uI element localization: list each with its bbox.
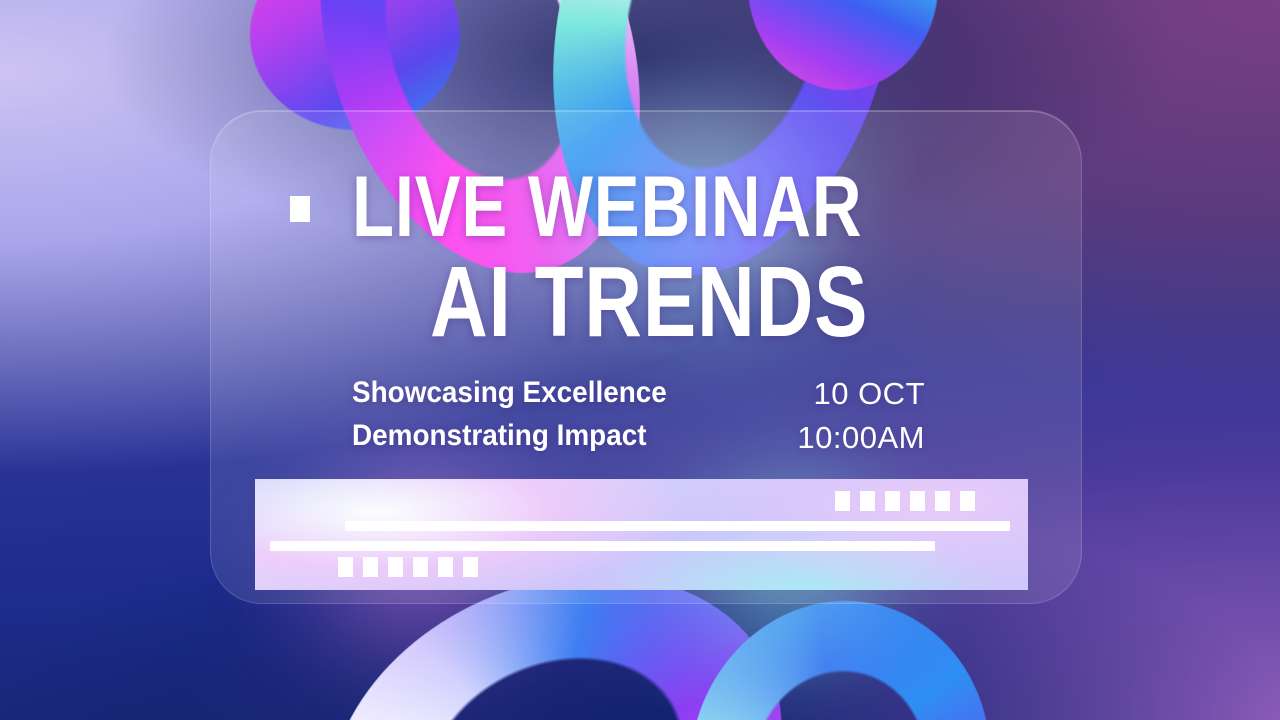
dot-marker — [463, 557, 478, 577]
dot-marker — [885, 491, 900, 511]
dot-marker — [363, 557, 378, 577]
event-date: 10 OCT — [625, 372, 925, 416]
dot-marker — [388, 557, 403, 577]
event-time: 10:00AM — [625, 416, 925, 460]
dot-marker — [413, 557, 428, 577]
event-schedule-block: 10 OCT 10:00AM — [625, 372, 925, 460]
headline-line-2: AI TRENDS — [430, 256, 910, 348]
dot-marker — [860, 491, 875, 511]
footer-panel — [255, 479, 1028, 590]
dot-group-bottom — [338, 557, 478, 577]
subtitle-block: Showcasing Excellence Demonstrating Impa… — [352, 372, 667, 457]
divider-bar — [270, 541, 935, 551]
headline-line-1: LIVE WEBINAR — [352, 168, 832, 247]
dot-marker — [935, 491, 950, 511]
divider-bar — [345, 521, 1010, 531]
dot-group-top — [835, 491, 975, 511]
square-marker-icon — [290, 196, 310, 222]
subtitle-line-1: Showcasing Excellence — [352, 372, 667, 415]
dot-marker — [910, 491, 925, 511]
dot-marker — [835, 491, 850, 511]
poster-canvas: LIVE WEBINAR AI TRENDS Showcasing Excell… — [0, 0, 1280, 720]
subtitle-line-2: Demonstrating Impact — [352, 415, 667, 458]
dot-marker — [338, 557, 353, 577]
dot-marker — [438, 557, 453, 577]
dot-marker — [960, 491, 975, 511]
